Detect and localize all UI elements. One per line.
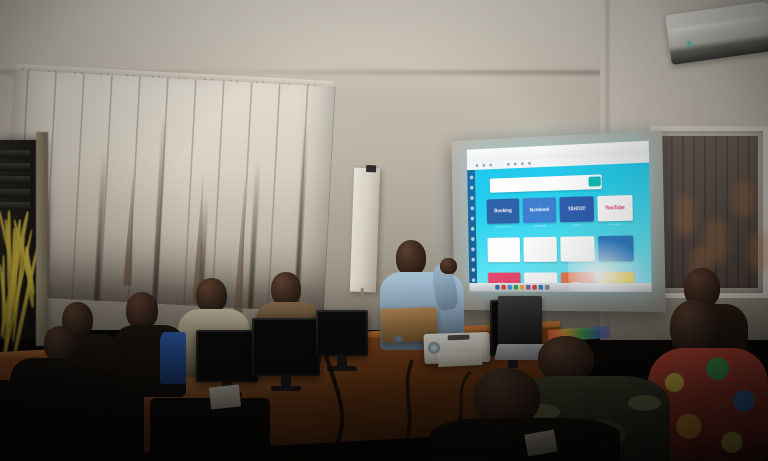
- attendee-left-3: [112, 292, 186, 392]
- rack-patch-panel: [0, 202, 30, 210]
- sidebar-icon[interactable]: [470, 206, 473, 210]
- tile-youtube[interactable]: YouTubeyoutube: [597, 195, 633, 226]
- blind-slit: [94, 151, 107, 301]
- search-button[interactable]: [589, 176, 601, 186]
- paper-stack: [438, 351, 483, 367]
- tile-caption: booking.com: [487, 224, 519, 228]
- attendee-blue-top: [160, 332, 186, 384]
- tile-tile-logo-2[interactable]: [523, 237, 557, 263]
- toolbar-icon[interactable]: [514, 162, 517, 165]
- monitor-screen: [318, 312, 366, 354]
- attendee-head: [271, 272, 301, 306]
- tile-tile-blue[interactable]: [598, 236, 634, 263]
- monitor-base: [271, 386, 301, 391]
- tile-thumb-booking-com[interactable]: Booking: [487, 198, 520, 223]
- rack-patch-panel: [0, 189, 30, 197]
- toolbar-icon[interactable]: [521, 162, 524, 165]
- sidebar-icon[interactable]: [470, 196, 473, 200]
- tile-tile-stripes[interactable]: [560, 236, 595, 263]
- toolbar-icon[interactable]: [528, 162, 531, 165]
- tile-thumb-tile-logo-2[interactable]: [523, 237, 557, 262]
- monitor-screen: [198, 332, 256, 380]
- tile-thumb-tile-stripes[interactable]: [560, 236, 595, 262]
- taskbar-icon[interactable]: [514, 285, 519, 290]
- taskbar-icon[interactable]: [507, 285, 511, 290]
- rack-patch-panel: [0, 150, 30, 158]
- speed-dial-tiles: Bookingbooking.comfacebookfacebookYAHOO!…: [487, 195, 635, 292]
- os-taskbar[interactable]: [469, 283, 651, 292]
- tile-thumb-yahoo[interactable]: YAHOO!: [559, 196, 594, 222]
- projected-browser-window: Bookingbooking.comfacebookfacebookYAHOO!…: [467, 141, 652, 292]
- taskbar-icon[interactable]: [539, 285, 544, 290]
- taskbar-icon[interactable]: [520, 285, 525, 290]
- sidebar-icon[interactable]: [470, 186, 473, 190]
- blind-slit: [152, 114, 167, 304]
- notepad-on-table: [209, 384, 241, 409]
- taskbar-icon[interactable]: [532, 285, 537, 290]
- monitor-base: [327, 366, 357, 371]
- rack-door-frame: [36, 132, 48, 346]
- sidebar-icon[interactable]: [469, 176, 472, 180]
- tile-row: Bookingbooking.comfacebookfacebookYAHOO!…: [487, 195, 633, 229]
- window-silhouette: [674, 196, 696, 236]
- tile-yahoo[interactable]: YAHOO!yahoo: [559, 196, 594, 227]
- taskbar-icon[interactable]: [526, 285, 531, 290]
- projection-screen: Bookingbooking.comfacebookfacebookYAHOO!…: [451, 130, 665, 312]
- blind-gap: [123, 166, 138, 286]
- window-glass: [660, 136, 758, 288]
- tile-thumb-tile-blue[interactable]: [598, 236, 634, 262]
- toolbar-icon[interactable]: [489, 164, 492, 167]
- tile-caption: facebook: [523, 223, 556, 228]
- rack-patch-panel: [0, 163, 30, 171]
- monitor-1[interactable]: [196, 330, 258, 382]
- taskbar-icon[interactable]: [495, 285, 499, 290]
- attendee-head: [670, 300, 718, 354]
- toolbar-icon[interactable]: [507, 163, 510, 166]
- chair-back-left: [0, 380, 144, 461]
- tile-tile-logo-1[interactable]: [487, 237, 520, 263]
- chair-back-center: [150, 398, 270, 461]
- sidebar-icon[interactable]: [470, 227, 473, 231]
- taskbar-icon[interactable]: [501, 285, 505, 290]
- attendee-head: [126, 292, 158, 329]
- attendee-head: [44, 326, 76, 362]
- sidebar-icon[interactable]: [470, 217, 473, 221]
- attendee-head: [196, 278, 227, 313]
- toolbar-icon[interactable]: [476, 164, 479, 167]
- search-input[interactable]: [490, 174, 602, 192]
- toolbar-icon[interactable]: [483, 164, 486, 167]
- flipchart-clip: [366, 165, 376, 172]
- tile-thumb-tile-logo-1[interactable]: [487, 237, 520, 262]
- photo-scene: Bookingbooking.comfacebookfacebookYAHOO!…: [0, 0, 768, 461]
- tile-caption: youtube: [598, 222, 633, 227]
- presenter-hand: [440, 258, 457, 274]
- taskbar-icon[interactable]: [545, 285, 550, 290]
- projector-controls[interactable]: [448, 335, 470, 341]
- flipchart-easel: [350, 168, 380, 293]
- tile-caption: yahoo: [560, 222, 594, 227]
- browser-page-content: Bookingbooking.comfacebookfacebookYAHOO!…: [467, 163, 652, 292]
- window-silhouette: [748, 232, 768, 272]
- tile-booking-com[interactable]: Bookingbooking.com: [487, 198, 520, 228]
- laptop-presenter-led: [395, 337, 402, 341]
- monitor-2[interactable]: [252, 318, 320, 376]
- monitor-3[interactable]: [316, 310, 368, 356]
- ac-led-indicator: [687, 41, 692, 46]
- rack-patch-panel: [0, 176, 30, 184]
- tile-thumb-youtube[interactable]: YouTube: [597, 195, 633, 221]
- tile-thumb-facebook[interactable]: facebook: [523, 197, 557, 223]
- window-silhouette: [734, 180, 754, 218]
- presenter-head: [396, 240, 426, 276]
- tile-row: [487, 236, 633, 264]
- tile-facebook[interactable]: facebookfacebook: [523, 197, 557, 227]
- attendee-front-1: [430, 368, 620, 461]
- monitor-screen: [254, 320, 318, 374]
